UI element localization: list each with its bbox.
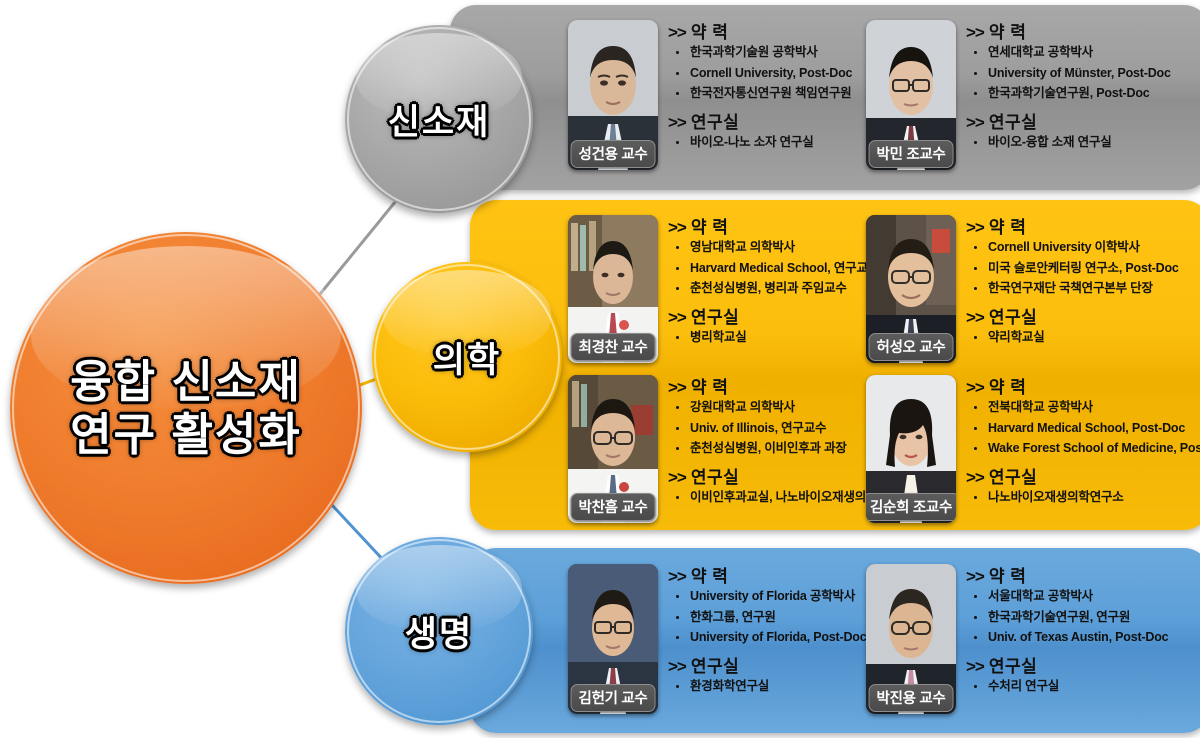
nameplate-parkchanheum: 박찬흠 교수 <box>571 493 656 521</box>
bio-list: 서울대학교 공학박사 한국과학기술연구원, 연구원 Univ. of Texas… <box>966 590 1200 644</box>
bio-item: 미국 슬로안케터링 연구소, Post-Doc <box>966 262 1200 275</box>
arrow-icon: >> <box>966 218 984 237</box>
bio-item: Cornell University 이학박사 <box>966 241 1200 254</box>
nameplate-heoseongoh: 허성오 교수 <box>869 333 954 361</box>
category-circle-saengmyeong[interactable]: 생명 <box>345 537 533 725</box>
lab-heading: >>연구실 <box>966 303 1200 328</box>
center-label-line1: 융합 신소재 <box>70 355 302 408</box>
bio-item: 연세대학교 공학박사 <box>966 46 1200 59</box>
arrow-icon: >> <box>966 657 984 676</box>
bio-item: University of Münster, Post-Doc <box>966 67 1200 80</box>
arrow-icon: >> <box>668 378 686 397</box>
bio-item: 한국과학기술연구원, 연구원 <box>966 611 1200 624</box>
info-parkjinyong: >>약 력 서울대학교 공학박사 한국과학기술연구원, 연구원 Univ. of… <box>966 562 1200 700</box>
bio-item: 서울대학교 공학박사 <box>966 590 1200 603</box>
category-label-saengmyeong: 생명 <box>405 606 473 657</box>
arrow-icon: >> <box>668 657 686 676</box>
lab-item: 약리학교실 <box>966 331 1200 344</box>
arrow-icon: >> <box>966 468 984 487</box>
category-circle-sinsoje[interactable]: 신소재 <box>345 25 533 213</box>
photo-parkchanheum: 박찬흠 교수 <box>568 375 658 523</box>
photo-parkmin: 박민 조교수 <box>866 20 956 170</box>
category-label-sinsoje: 신소재 <box>388 94 491 145</box>
arrow-icon: >> <box>966 308 984 327</box>
nameplate-parkjinyong: 박진용 교수 <box>869 684 954 712</box>
nameplate-parkmin: 박민 조교수 <box>869 140 954 168</box>
lab-item: 바이오-융합 소재 연구실 <box>966 136 1200 149</box>
lab-list: 나노바이오재생의학연구소 <box>966 491 1200 504</box>
photo-parkjinyong: 박진용 교수 <box>866 564 956 714</box>
lab-heading: >>연구실 <box>966 652 1200 677</box>
bio-list: Cornell University 이학박사 미국 슬로안케터링 연구소, P… <box>966 241 1200 295</box>
arrow-icon: >> <box>668 308 686 327</box>
bio-item: 한국연구재단 국책연구본부 단장 <box>966 282 1200 295</box>
center-circle-label: 융합 신소재 연구 활성화 <box>70 355 302 461</box>
bio-item: Wake Forest School of Medicine, Post-Doc <box>966 442 1200 455</box>
bio-item: 전북대학교 공학박사 <box>966 401 1200 414</box>
photo-sunggeonyong: 성건용 교수 <box>568 20 658 170</box>
info-kimsoonhee: >>약 력 전북대학교 공학박사 Harvard Medical School,… <box>966 373 1200 511</box>
bio-heading: >>약 력 <box>966 213 1200 238</box>
arrow-icon: >> <box>668 468 686 487</box>
bio-heading: >>약 력 <box>966 18 1200 43</box>
nameplate-sunggeonyong: 성건용 교수 <box>571 140 656 168</box>
lab-heading: >>연구실 <box>966 463 1200 488</box>
arrow-icon: >> <box>966 23 984 42</box>
bio-item: 한국과학기술연구원, Post-Doc <box>966 87 1200 100</box>
info-parkmin: >>약 력 연세대학교 공학박사 University of Münster, … <box>966 18 1200 156</box>
arrow-icon: >> <box>966 567 984 586</box>
bio-list: 연세대학교 공학박사 University of Münster, Post-D… <box>966 46 1200 100</box>
photo-heoseongoh: 허성오 교수 <box>866 215 956 363</box>
photo-choikyeongchan: 최경찬 교수 <box>568 215 658 363</box>
arrow-icon: >> <box>668 23 686 42</box>
arrow-icon: >> <box>966 113 984 132</box>
arrow-icon: >> <box>966 378 984 397</box>
bio-list: 전북대학교 공학박사 Harvard Medical School, Post-… <box>966 401 1200 455</box>
diagram-canvas: 성건용 교수 >>약 력 한국과학기술원 공학박사 Cornell Univer… <box>0 0 1200 738</box>
bio-item: Harvard Medical School, Post-Doc <box>966 422 1200 435</box>
center-circle[interactable]: 융합 신소재 연구 활성화 <box>10 232 362 584</box>
arrow-icon: >> <box>668 218 686 237</box>
bio-heading: >>약 력 <box>966 373 1200 398</box>
category-circle-uihak[interactable]: 의학 <box>372 262 562 452</box>
info-heoseongoh: >>약 력 Cornell University 이학박사 미국 슬로안케터링 … <box>966 213 1200 351</box>
photo-kimsoonhee: 김순희 조교수 <box>866 375 956 523</box>
lab-item: 수처리 연구실 <box>966 680 1200 693</box>
lab-list: 수처리 연구실 <box>966 680 1200 693</box>
lab-list: 약리학교실 <box>966 331 1200 344</box>
bio-heading: >>약 력 <box>966 562 1200 587</box>
nameplate-choikyeongchan: 최경찬 교수 <box>571 333 656 361</box>
lab-heading: >>연구실 <box>966 108 1200 133</box>
photo-kimheongi: 김헌기 교수 <box>568 564 658 714</box>
category-label-uihak: 의학 <box>433 332 501 383</box>
arrow-icon: >> <box>668 113 686 132</box>
lab-item: 나노바이오재생의학연구소 <box>966 491 1200 504</box>
bio-item: Univ. of Texas Austin, Post-Doc <box>966 631 1200 644</box>
connector-center-to-sinsoje <box>316 196 400 299</box>
nameplate-kimheongi: 김헌기 교수 <box>571 684 656 712</box>
lab-list: 바이오-융합 소재 연구실 <box>966 136 1200 149</box>
center-label-line2: 연구 활성화 <box>70 408 302 461</box>
arrow-icon: >> <box>668 567 686 586</box>
nameplate-kimsoonhee: 김순희 조교수 <box>866 493 956 521</box>
